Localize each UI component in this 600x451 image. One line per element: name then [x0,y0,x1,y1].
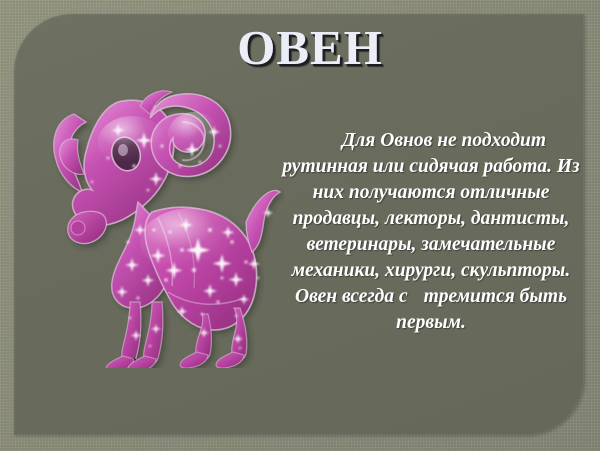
aries-ram-illustration [22,62,284,368]
body-line-5: лекторы, дантисты, [385,208,569,229]
body-line-2: рутинная или сидячая [282,156,478,177]
body-line-1: Для Овнов не подходит [342,130,546,151]
presentation-slide: ОВЕН Для Овнов не подходит рутинная или … [0,0,600,451]
slide-body-text: Для Овнов не подходит рутинная или сидяч… [278,128,584,336]
body-line-9b: тремится быть [424,286,567,307]
body-line-6: ветеринары, [307,234,417,255]
slide-title: ОВЕН [160,22,460,73]
body-line-10: первым. [396,312,466,333]
body-line-9a: всегда с [342,286,408,307]
